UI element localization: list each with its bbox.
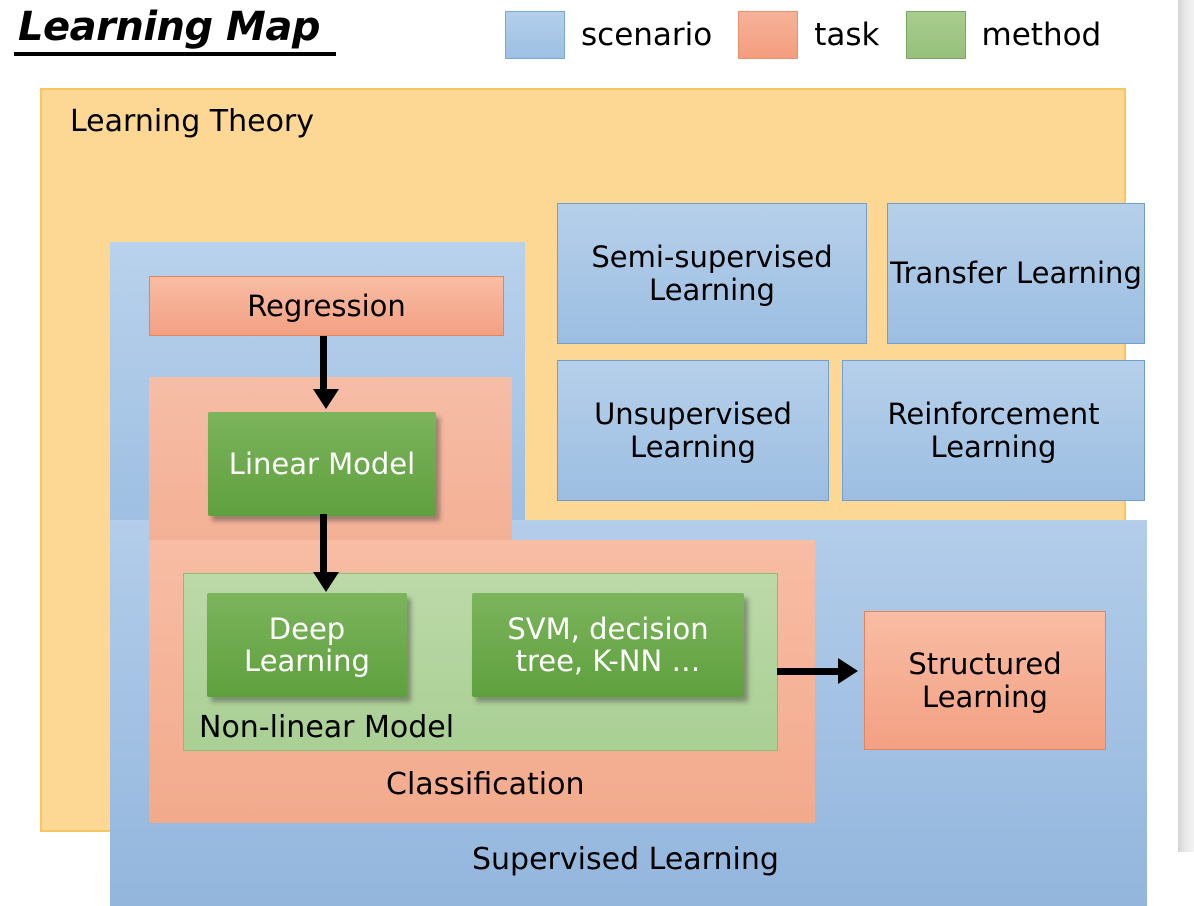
node-structured-learning[interactable]: Structured Learning bbox=[864, 611, 1106, 750]
legend: scenario task method bbox=[505, 6, 1127, 64]
page-title-underline bbox=[14, 52, 336, 56]
node-transfer-learning[interactable]: Transfer Learning bbox=[887, 203, 1145, 344]
page-edge-strip bbox=[1178, 0, 1194, 852]
arrow-head-right-icon bbox=[838, 658, 858, 684]
legend-label-task: task bbox=[814, 17, 879, 53]
node-semi-supervised-learning[interactable]: Semi-supervised Learning bbox=[557, 203, 867, 344]
node-linear-model[interactable]: Linear Model bbox=[208, 412, 436, 516]
classification-label: Classification bbox=[386, 767, 585, 802]
legend-swatch-task-icon bbox=[738, 11, 798, 59]
legend-item-scenario: scenario bbox=[505, 11, 738, 59]
legend-item-task: task bbox=[738, 11, 905, 59]
page-title: Learning Map bbox=[18, 4, 320, 50]
legend-swatch-scenario-icon bbox=[505, 11, 565, 59]
node-unsupervised-learning[interactable]: Unsupervised Learning bbox=[557, 360, 829, 501]
arrow-head-down-icon bbox=[313, 572, 339, 592]
learning-theory-label: Learning Theory bbox=[70, 104, 314, 139]
legend-label-scenario: scenario bbox=[581, 17, 712, 53]
node-regression[interactable]: Regression bbox=[149, 276, 504, 336]
non-linear-model-label: Non-linear Model bbox=[199, 710, 454, 745]
node-deep-learning[interactable]: Deep Learning bbox=[207, 593, 407, 697]
node-svm-decision-tree-knn[interactable]: SVM, decision tree, K-NN … bbox=[472, 593, 744, 697]
learning-theory-container: Learning Theory Supervised Learning Clas… bbox=[40, 88, 1126, 832]
supervised-learning-label: Supervised Learning bbox=[472, 842, 779, 877]
arrow-linear-model-to-deep-learning bbox=[320, 514, 327, 576]
arrow-nonlinear-to-structured-learning bbox=[777, 668, 841, 675]
arrow-head-down-icon bbox=[313, 389, 339, 409]
arrow-regression-to-linear-model bbox=[320, 336, 327, 392]
node-reinforcement-learning[interactable]: Reinforcement Learning bbox=[842, 360, 1145, 501]
legend-swatch-method-icon bbox=[906, 11, 966, 59]
legend-label-method: method bbox=[982, 17, 1102, 53]
legend-item-method: method bbox=[906, 11, 1128, 59]
